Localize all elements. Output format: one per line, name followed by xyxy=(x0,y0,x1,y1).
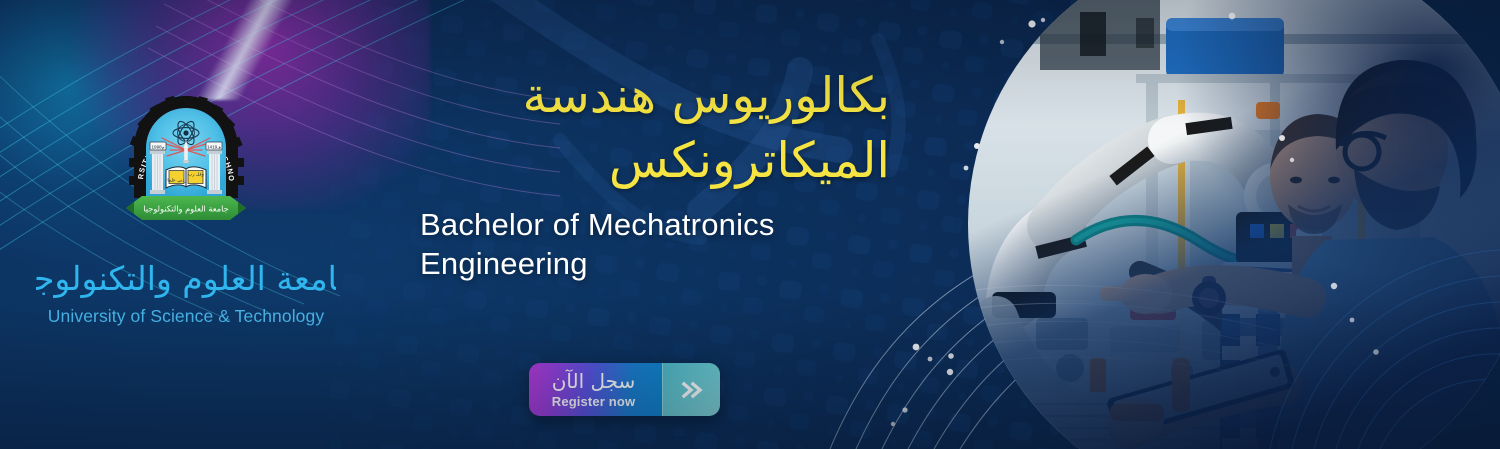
headline-arabic: بكالوريوس هندسة الميكاترونكس xyxy=(490,64,890,193)
register-now-button[interactable]: سجل الآن Register now xyxy=(529,363,720,416)
promo-banner: UNIVERSITY OF SCIENCE & TECHNOLOGY xyxy=(0,0,1500,449)
register-now-label-arabic: سجل الآن xyxy=(552,371,636,392)
headline-english: Bachelor of Mechatronics Engineering xyxy=(420,205,840,283)
register-now-labels[interactable]: سجل الآن Register now xyxy=(529,363,662,416)
headline-block: بكالوريوس هندسة الميكاترونكس Bachelor of… xyxy=(420,64,890,283)
crest-ribbon: جامعة العلوم والتكنولوجيا xyxy=(126,196,246,220)
crest-book-line1: وقل رب xyxy=(188,173,204,178)
crest-book-line2: زدني علما xyxy=(167,178,186,183)
crest-right-date: 1419هـ xyxy=(207,144,222,149)
headline-arabic-line-1: بكالوريوس هندسة xyxy=(490,64,890,129)
university-crest: UNIVERSITY OF SCIENCE & TECHNOLOGY xyxy=(122,96,250,230)
university-logo-block: UNIVERSITY OF SCIENCE & TECHNOLOGY xyxy=(0,96,372,327)
university-name-arabic: جامعة العلوم والتكنولوجيا xyxy=(36,252,336,304)
hero-photo xyxy=(940,0,1500,449)
headline-arabic-line-2: الميكاترونكس xyxy=(490,129,890,194)
university-name-english: University of Science & Technology xyxy=(48,306,324,327)
svg-text:جامعة العلوم والتكنولوجيا: جامعة العلوم والتكنولوجيا xyxy=(36,259,336,299)
double-chevron-right-icon[interactable] xyxy=(662,363,720,416)
crest-ribbon-text: جامعة العلوم والتكنولوجيا xyxy=(143,204,228,214)
register-now-label-english: Register now xyxy=(552,394,635,409)
background-light-streak xyxy=(150,0,360,100)
